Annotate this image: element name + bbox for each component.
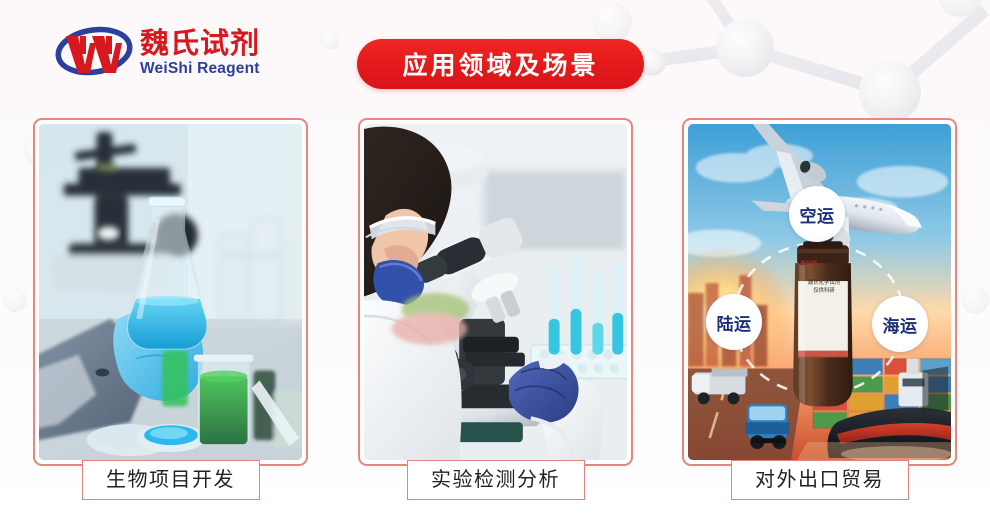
card-export-trade[interactable]: 魏氏试剂 魏氏化学试剂 仅供科研 空运 陆运 海运 <box>682 118 957 466</box>
bottle-brand-mark: 魏氏试剂 <box>801 260 847 265</box>
card-frame: 魏氏试剂 魏氏化学试剂 仅供科研 空运 陆运 海运 <box>682 118 957 466</box>
card-label-box: 生物项目开发 <box>82 460 260 500</box>
land-freight-badge: 陆运 <box>706 294 762 350</box>
card-label-box: 实验检测分析 <box>407 460 585 500</box>
sea-freight-badge: 海运 <box>872 296 928 352</box>
brand-name-cn: 魏氏试剂 <box>140 28 260 59</box>
page-header: 魏氏试剂 WeiShi Reagent 应用领域及场景 <box>0 0 990 112</box>
air-freight-label: 空运 <box>800 202 835 227</box>
brand-logo-text: 魏氏试剂 WeiShi Reagent <box>140 28 260 78</box>
scientist-microscope-photo <box>364 124 627 460</box>
card-label-text: 实验检测分析 <box>431 467 560 491</box>
page-title: 应用领域及场景 <box>402 46 598 82</box>
bottle-label-line2: 仅供科研 <box>801 287 847 295</box>
air-freight-badge: 空运 <box>789 186 845 242</box>
card-frame <box>33 118 308 466</box>
card-label-text: 对外出口贸易 <box>755 467 884 491</box>
card-label-box: 对外出口贸易 <box>731 460 909 500</box>
card-biological-project[interactable]: 生物项目开发 <box>33 118 308 466</box>
weishi-w-logo-icon <box>52 21 136 85</box>
bottle-label-text: 魏氏化学试剂 仅供科研 <box>801 279 847 295</box>
card-label-text: 生物项目开发 <box>106 467 235 491</box>
section-title-banner: 应用领域及场景 <box>357 39 644 89</box>
sea-freight-label: 海运 <box>883 312 918 337</box>
card-lab-testing[interactable]: 实验检测分析 <box>358 118 633 466</box>
application-cards: 生物项目开发 <box>0 118 990 478</box>
export-logistics-photo: 魏氏试剂 魏氏化学试剂 仅供科研 空运 陆运 海运 <box>688 124 951 460</box>
brand-name-en: WeiShi Reagent <box>140 60 260 78</box>
card-frame <box>358 118 633 466</box>
lab-flask-microscope-photo <box>39 124 302 460</box>
brand-logo[interactable]: 魏氏试剂 WeiShi Reagent <box>52 21 260 85</box>
bottle-label-line1: 魏氏化学试剂 <box>801 279 847 287</box>
promo-banner-page: 魏氏试剂 WeiShi Reagent 应用领域及场景 <box>0 0 990 513</box>
land-freight-label: 陆运 <box>717 310 752 335</box>
